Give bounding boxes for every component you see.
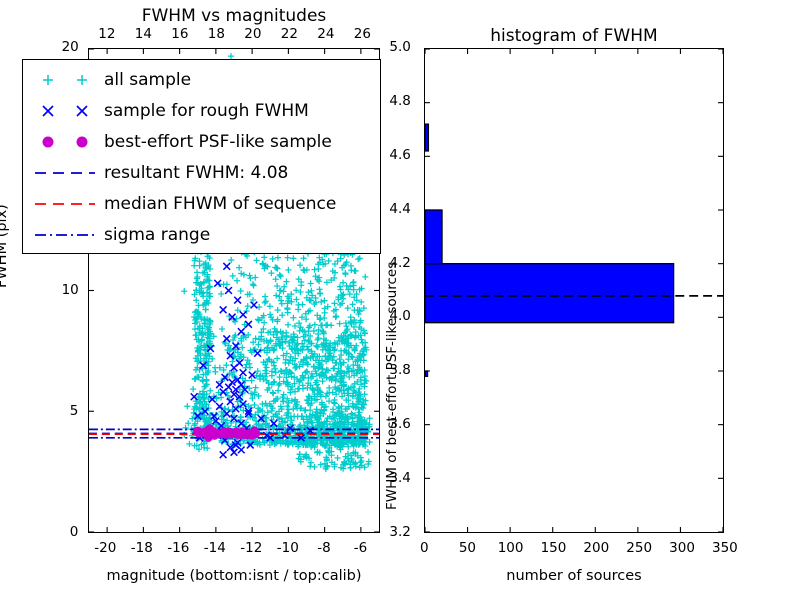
legend-box: all samplesample for rough FWHMbest-effo…	[22, 59, 381, 254]
right-panel-ylabel: FWHM of best-effort PSF-like sources	[384, 262, 400, 510]
x-tick-top: 26	[354, 26, 371, 42]
legend-item: median FHWM of sequence	[23, 188, 380, 219]
y-tick-right-panel: 3.2	[389, 524, 410, 540]
y-tick-right-panel: 4.6	[389, 147, 410, 163]
legend-marker-dashed-line-icon	[32, 191, 98, 217]
legend-marker-cross-icon	[32, 98, 98, 124]
right-panel-xlabel: number of sources	[424, 568, 724, 584]
x-tick-right-panel: 250	[626, 540, 652, 556]
legend-item: sample for rough FWHM	[23, 95, 380, 126]
y-tick-left: 5	[70, 403, 79, 419]
histogram-bar	[425, 371, 428, 376]
legend-item-label: best-effort PSF-like sample	[98, 132, 332, 152]
x-tick-right-panel: 50	[459, 540, 476, 556]
legend-marker-dashed-line-icon	[32, 160, 98, 186]
legend-marker-plus-icon	[32, 67, 98, 93]
legend-item: all sample	[23, 64, 380, 95]
x-tick-bottom: -12	[240, 540, 262, 556]
y-tick-right-panel: 4.8	[389, 93, 410, 109]
x-tick-right-panel: 0	[420, 540, 429, 556]
x-tick-top: 16	[171, 26, 188, 42]
left-panel-title: FWHM vs magnitudes	[88, 6, 380, 26]
legend-item-label: sigma range	[98, 225, 210, 245]
legend-item-label: resultant FWHM: 4.08	[98, 163, 288, 183]
x-tick-bottom: -16	[167, 540, 189, 556]
x-tick-top: 18	[208, 26, 225, 42]
y-tick-right-panel: 4.4	[389, 201, 410, 217]
x-tick-right-panel: 100	[498, 540, 524, 556]
right-plot-axes[interactable]	[424, 48, 724, 533]
figure-canvas: FWHM vs magnitudes 1214161820222426 -20-…	[0, 0, 800, 600]
x-tick-top: 24	[317, 26, 334, 42]
x-tick-top: 14	[135, 26, 152, 42]
y-tick-left: 0	[70, 524, 79, 540]
legend-item-label: sample for rough FWHM	[98, 101, 309, 121]
x-tick-bottom: -18	[131, 540, 153, 556]
legend-item-label: all sample	[98, 70, 191, 90]
histogram-canvas	[425, 49, 723, 532]
y-tick-left: 10	[62, 282, 79, 298]
x-tick-top: 20	[244, 26, 261, 42]
left-panel-ylabel: FWHM (pix)	[0, 204, 10, 288]
y-tick-left: 20	[62, 39, 79, 55]
legend-item: best-effort PSF-like sample	[23, 126, 380, 157]
histogram-bar	[425, 264, 674, 323]
histogram-bar	[425, 124, 428, 151]
y-tick-right-panel: 5.0	[389, 39, 410, 55]
legend-item-label: median FHWM of sequence	[98, 194, 336, 214]
x-tick-right-panel: 200	[583, 540, 609, 556]
x-tick-right-panel: 300	[669, 540, 695, 556]
legend-item: resultant FWHM: 4.08	[23, 157, 380, 188]
x-tick-right-panel: 150	[541, 540, 567, 556]
histogram-bar	[425, 210, 442, 264]
x-tick-top: 12	[98, 26, 115, 42]
x-tick-bottom: -10	[277, 540, 299, 556]
legend-marker-dashdot-line-icon	[32, 222, 98, 248]
left-panel-xlabel: magnitude (bottom:isnt / top:calib)	[88, 568, 380, 584]
x-tick-right-panel: 350	[712, 540, 738, 556]
x-tick-bottom: -8	[317, 540, 330, 556]
x-tick-bottom: -14	[204, 540, 226, 556]
x-tick-bottom: -20	[94, 540, 116, 556]
right-panel-title: histogram of FWHM	[424, 26, 724, 46]
histogram-bars	[425, 124, 674, 376]
x-tick-top: 22	[281, 26, 298, 42]
x-tick-bottom: -6	[354, 540, 367, 556]
legend-marker-circle-icon	[32, 129, 98, 155]
legend-item: sigma range	[23, 219, 380, 250]
